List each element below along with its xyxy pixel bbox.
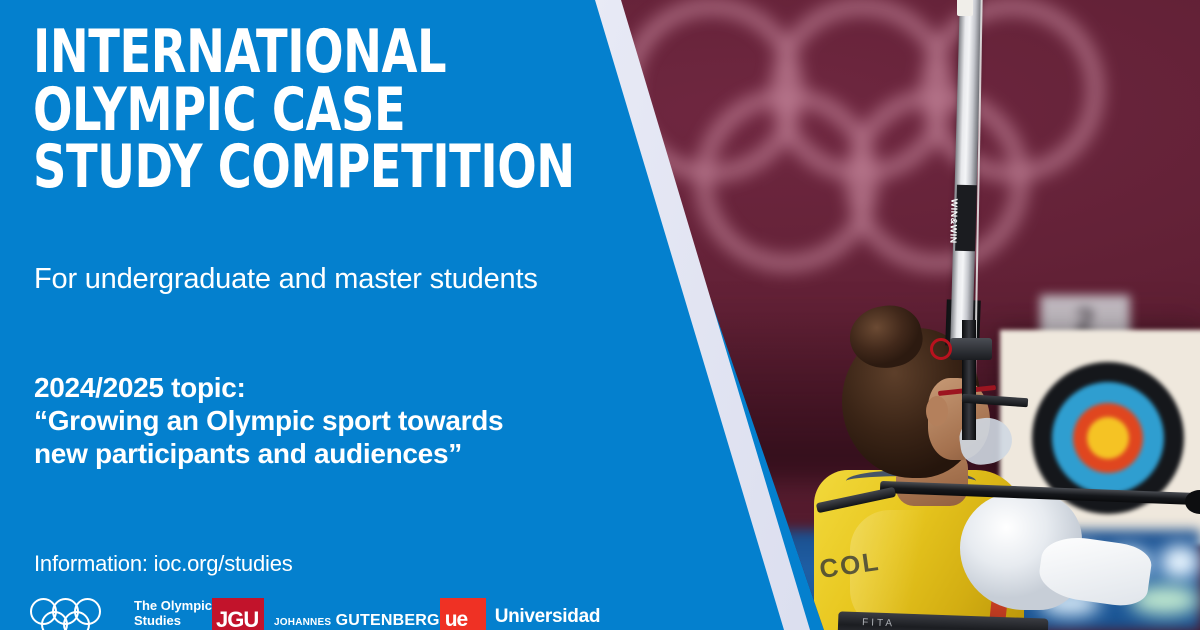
- jersey-country-code: COL: [818, 546, 883, 594]
- logo-ue-text: Universidad Europea: [495, 606, 600, 630]
- stadium-light: [1160, 545, 1200, 579]
- page-title: INTERNATIONAL OLYMPIC CASE STUDY COMPETI…: [33, 24, 497, 197]
- logo-johannes-gutenberg-university: JGU JOHANNES GUTENBERG: [212, 598, 440, 630]
- topic-block: 2024/2025 topic: “Growing an Olympic spo…: [34, 372, 594, 470]
- headline-line-3: STUDY COMPETITION: [33, 139, 497, 197]
- olympic-rings-wall-graphic: [600, 0, 1200, 280]
- logo-jgu-text: JOHANNES GUTENBERG: [274, 612, 440, 630]
- jgu-mark-text: JGU: [216, 607, 258, 630]
- information-link[interactable]: Information: ioc.org/studies: [34, 551, 293, 577]
- ue-mark-text: ue: [445, 608, 468, 630]
- poster-content: INTERNATIONAL OLYMPIC CASE STUDY COMPETI…: [0, 0, 600, 630]
- topic-quote-line-1: “Growing an Olympic sport towards: [34, 405, 594, 438]
- poster-canvas: 2 COL: [0, 0, 1200, 630]
- logo-osc-line-1: The Olympic: [134, 598, 212, 613]
- topic-label: 2024/2025 topic:: [34, 372, 594, 405]
- bow-brand-label: WIN&WIN: [955, 185, 977, 252]
- logo-ue-line-1: Universidad: [495, 606, 600, 628]
- bow-sight-ring: [930, 338, 952, 360]
- bow-brand-text: WIN&WIN: [949, 199, 960, 219]
- bow-sight-block: [950, 338, 992, 360]
- logo-jgu-small: JOHANNES: [274, 617, 331, 628]
- headline-line-1: INTERNATIONAL: [33, 24, 497, 82]
- partner-logo-row: The Olympic Studies JGU JOHANNES GUTENBE…: [30, 598, 590, 630]
- jgu-mark-icon: JGU: [212, 598, 264, 630]
- athlete-ear: [926, 396, 948, 426]
- topic-quote-line-2: new participants and audiences”: [34, 438, 594, 471]
- logo-jgu-big: GUTENBERG: [336, 612, 440, 629]
- ue-mark-icon: ue: [440, 598, 486, 630]
- headline-line-2: OLYMPIC CASE: [33, 82, 497, 140]
- logo-osc-text: The Olympic Studies: [134, 598, 212, 629]
- olympic-rings-icon: [30, 598, 124, 630]
- logo-olympic-studies-centre: The Olympic Studies: [30, 598, 212, 630]
- bow-limb-tip: [957, 0, 973, 16]
- logo-universidad-europea: ue Universidad Europea: [440, 598, 600, 630]
- logo-osc-line-2: Studies: [134, 613, 212, 628]
- subtitle: For undergraduate and master students: [34, 263, 538, 296]
